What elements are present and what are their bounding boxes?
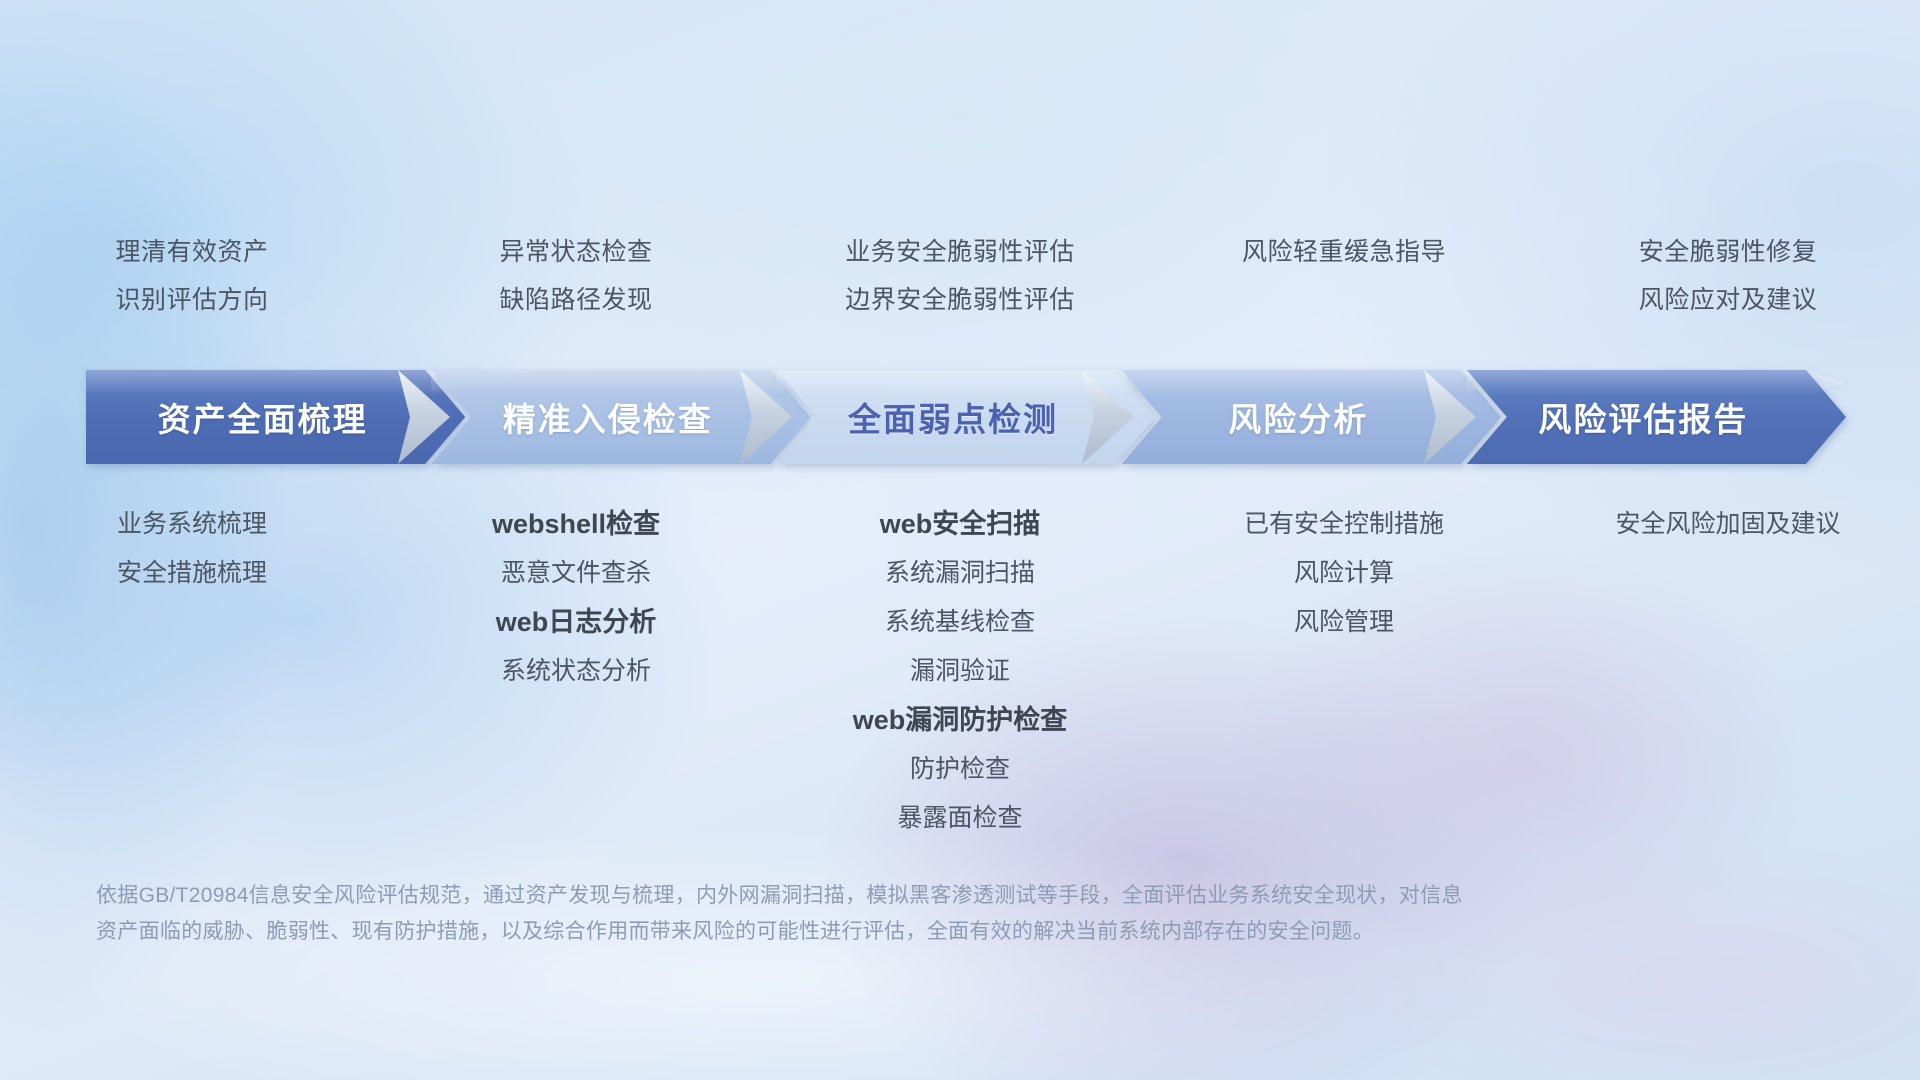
bottom-list-weakness-detection: web安全扫描 系统漏洞扫描 系统基线检查 漏洞验证 web漏洞防护检查 防护检… — [768, 500, 1152, 843]
stage-label: 风险评估报告 — [1538, 393, 1748, 441]
list-item: web安全扫描 — [880, 500, 1041, 549]
list-item: 系统状态分析 — [501, 647, 651, 696]
list-item: 安全措施梳理 — [117, 549, 267, 598]
top-labels-risk-report: 安全脆弱性修复 风险应对及建议 — [1536, 228, 1920, 348]
list-item: web漏洞防护检查 — [853, 696, 1068, 745]
bottom-list-asset-inventory: 业务系统梳理 安全措施梳理 — [0, 500, 384, 598]
top-labels-weakness-detection: 业务安全脆弱性评估 边界安全脆弱性评估 — [768, 228, 1152, 348]
list-item: 防护检查 — [910, 745, 1010, 794]
footnote: 依据GB/T20984信息安全风险评估规范，通过资产发现与梳理，内外网漏洞扫描，… — [96, 878, 1656, 950]
top-label: 理清有效资产 — [115, 228, 268, 276]
stage-label: 精准入侵检查 — [503, 393, 713, 441]
list-item: web日志分析 — [496, 598, 657, 647]
bottom-list-risk-report: 安全风险加固及建议 — [1536, 500, 1920, 549]
process-arrow-banner: 资产全面梳理 精准入侵检查 全面弱点检测 风险分析 风险评估报告 — [86, 370, 1846, 464]
list-item: 暴露面检查 — [897, 794, 1022, 843]
stage-chevron-weakness-detection[interactable]: 全面弱点检测 — [776, 370, 1155, 464]
list-item: 风险管理 — [1294, 598, 1394, 647]
bottom-list-intrusion-check: webshell检查 恶意文件查杀 web日志分析 系统状态分析 — [384, 500, 768, 696]
top-label: 边界安全脆弱性评估 — [845, 276, 1075, 324]
top-label-row: 理清有效资产 识别评估方向 异常状态检查 缺陷路径发现 业务安全脆弱性评估 边界… — [0, 228, 1920, 348]
footnote-line-2: 资产面临的威胁、脆弱性、现有防护措施，以及综合作用而带来风险的可能性进行评估，全… — [96, 914, 1656, 950]
top-label: 风险应对及建议 — [1639, 276, 1818, 324]
list-item: 恶意文件查杀 — [501, 549, 651, 598]
stage-label: 风险分析 — [1228, 393, 1368, 441]
list-item: webshell检查 — [492, 500, 660, 549]
stage-chevron-asset-inventory[interactable]: 资产全面梳理 — [86, 370, 465, 464]
list-item: 系统漏洞扫描 — [885, 549, 1035, 598]
list-item: 已有安全控制措施 — [1244, 500, 1444, 549]
list-item: 风险计算 — [1294, 549, 1394, 598]
footnote-line-1: 依据GB/T20984信息安全风险评估规范，通过资产发现与梳理，内外网漏洞扫描，… — [96, 878, 1656, 914]
top-label: 异常状态检查 — [499, 228, 652, 276]
top-label: 识别评估方向 — [115, 276, 268, 324]
stage-label: 全面弱点检测 — [848, 393, 1058, 441]
list-item: 业务系统梳理 — [117, 500, 267, 549]
top-label: 缺陷路径发现 — [499, 276, 652, 324]
stage-chevron-risk-report[interactable]: 风险评估报告 — [1467, 370, 1846, 464]
bottom-list-row: 业务系统梳理 安全措施梳理 webshell检查 恶意文件查杀 web日志分析 … — [0, 500, 1920, 843]
bottom-list-risk-analysis: 已有安全控制措施 风险计算 风险管理 — [1152, 500, 1536, 647]
list-item: 漏洞验证 — [910, 647, 1010, 696]
list-item: 系统基线检查 — [885, 598, 1035, 647]
slide-canvas: 理清有效资产 识别评估方向 异常状态检查 缺陷路径发现 业务安全脆弱性评估 边界… — [0, 0, 1920, 1080]
top-labels-asset-inventory: 理清有效资产 识别评估方向 — [0, 228, 384, 348]
stage-chevron-risk-analysis[interactable]: 风险分析 — [1122, 370, 1501, 464]
top-label: 安全脆弱性修复 — [1639, 228, 1818, 276]
top-label: 风险轻重缓急指导 — [1242, 228, 1446, 276]
top-label: 业务安全脆弱性评估 — [845, 228, 1075, 276]
list-item: 安全风险加固及建议 — [1615, 500, 1840, 549]
top-labels-risk-analysis: 风险轻重缓急指导 — [1152, 228, 1536, 348]
stage-chevron-intrusion-check[interactable]: 精准入侵检查 — [431, 370, 810, 464]
stage-label: 资产全面梳理 — [158, 393, 368, 441]
top-labels-intrusion-check: 异常状态检查 缺陷路径发现 — [384, 228, 768, 348]
